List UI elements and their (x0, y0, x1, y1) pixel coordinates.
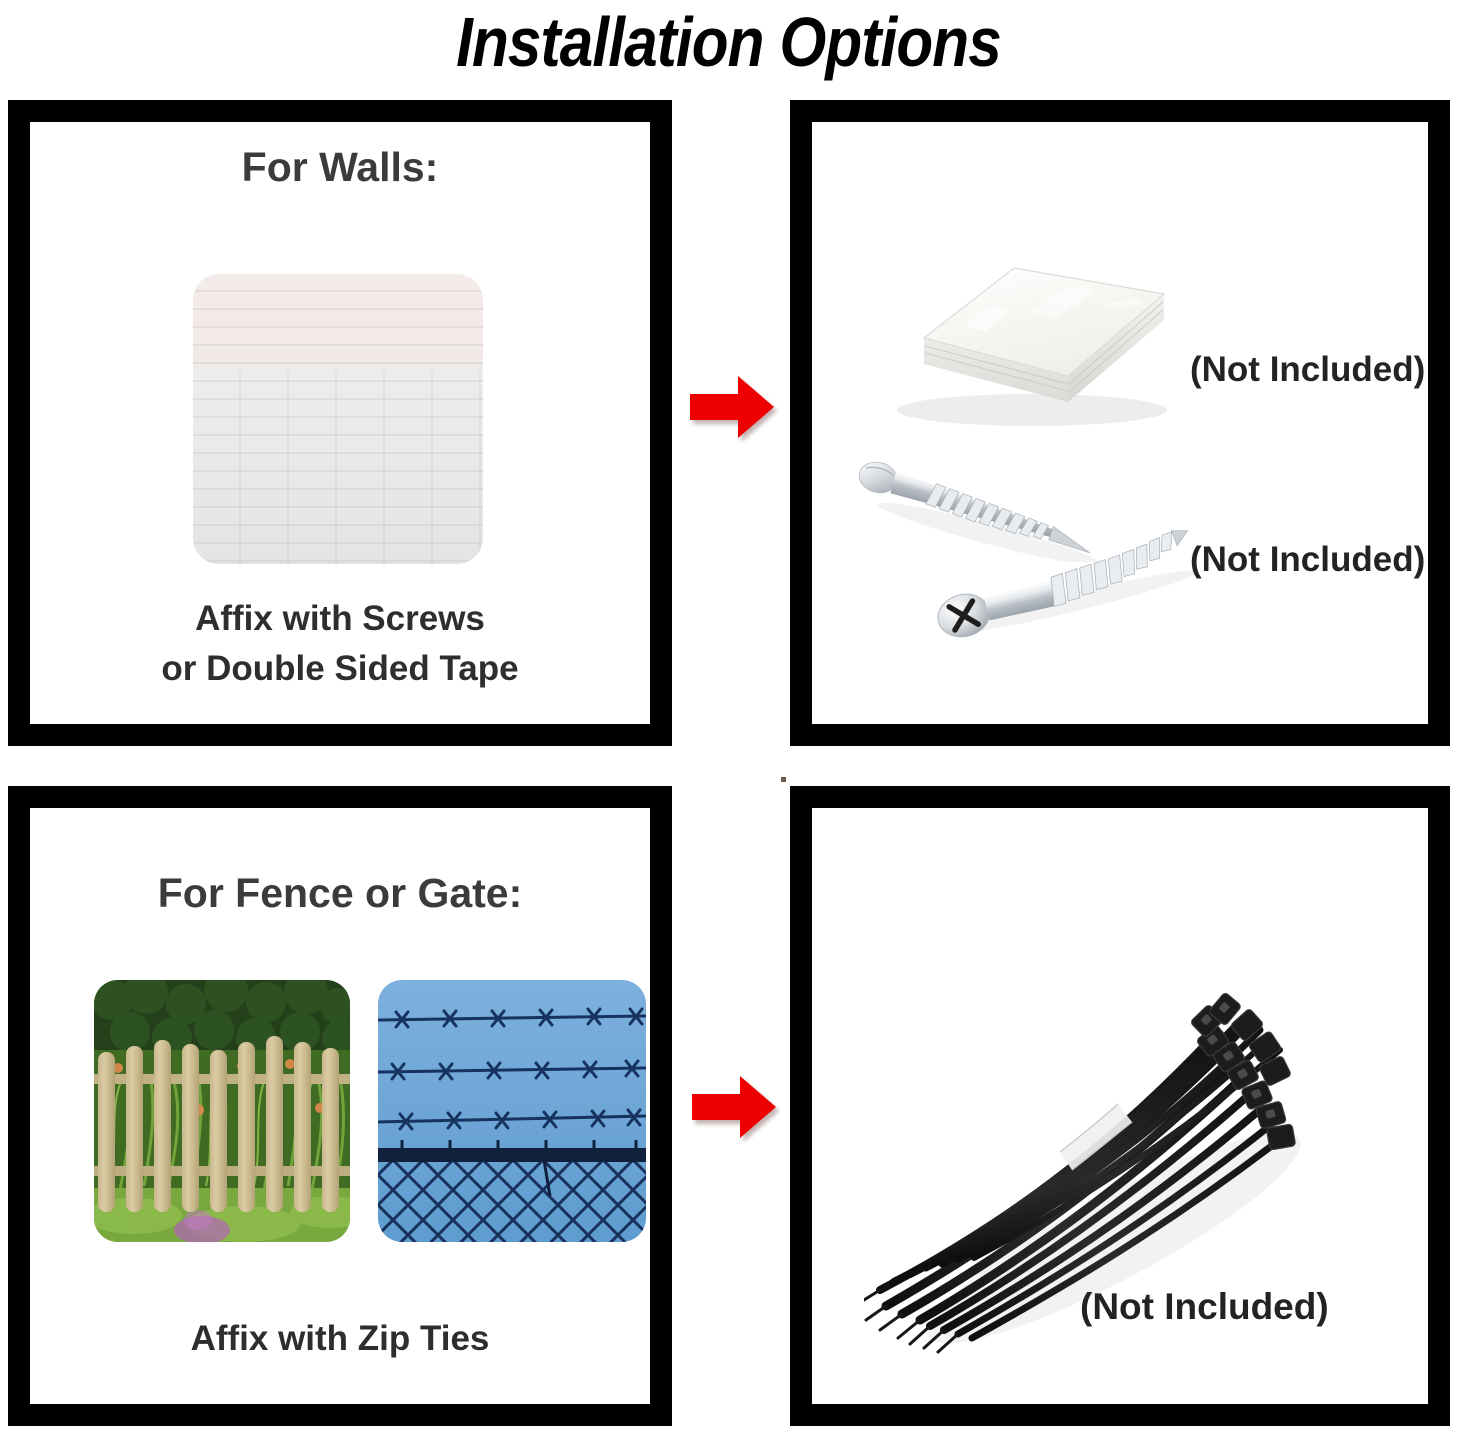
white-brick-wall-image (193, 274, 483, 564)
for-walls-caption-line1: Affix with Screws (30, 594, 650, 644)
page-title: Installation Options (102, 2, 1355, 82)
panel-zip-ties-inner: (Not Included) (812, 808, 1428, 1404)
ziptie-not-included-label: (Not Included) (1080, 1286, 1329, 1328)
for-fence-heading: For Fence or Gate: (30, 870, 650, 917)
double-sided-tape-stack-image (872, 242, 1182, 432)
for-fence-caption: Affix with Zip Ties (30, 1314, 650, 1364)
red-right-arrow-icon (688, 374, 776, 440)
panel-for-fence-or-gate-inner: For Fence or Gate: (30, 808, 650, 1404)
screw-not-included-label: (Not Included) (1190, 540, 1425, 580)
for-walls-caption: Affix with Screws or Double Sided Tape (30, 594, 650, 693)
for-walls-heading: For Walls: (30, 144, 650, 191)
chain-link-barbed-wire-fence-image (378, 980, 646, 1242)
wood-screw-image-2 (930, 530, 1230, 650)
for-walls-caption-line2: or Double Sided Tape (30, 644, 650, 694)
panel-for-walls: For Walls: Affix with Screws or Double S… (8, 100, 672, 746)
wooden-picket-fence-image (94, 980, 350, 1242)
panel-wall-hardware: (Not Included) (790, 100, 1450, 746)
red-right-arrow-icon (690, 1074, 778, 1140)
panel-for-walls-inner: For Walls: Affix with Screws or Double S… (30, 122, 650, 724)
tape-not-included-label: (Not Included) (1190, 350, 1425, 390)
installation-options-graphic: Installation Options For Walls: Affix wi… (0, 0, 1457, 1434)
image-artifact-speck (781, 777, 786, 782)
panel-wall-hardware-inner: (Not Included) (812, 122, 1428, 724)
panel-zip-ties: (Not Included) (790, 786, 1450, 1426)
panel-for-fence-or-gate: For Fence or Gate: (8, 786, 672, 1426)
